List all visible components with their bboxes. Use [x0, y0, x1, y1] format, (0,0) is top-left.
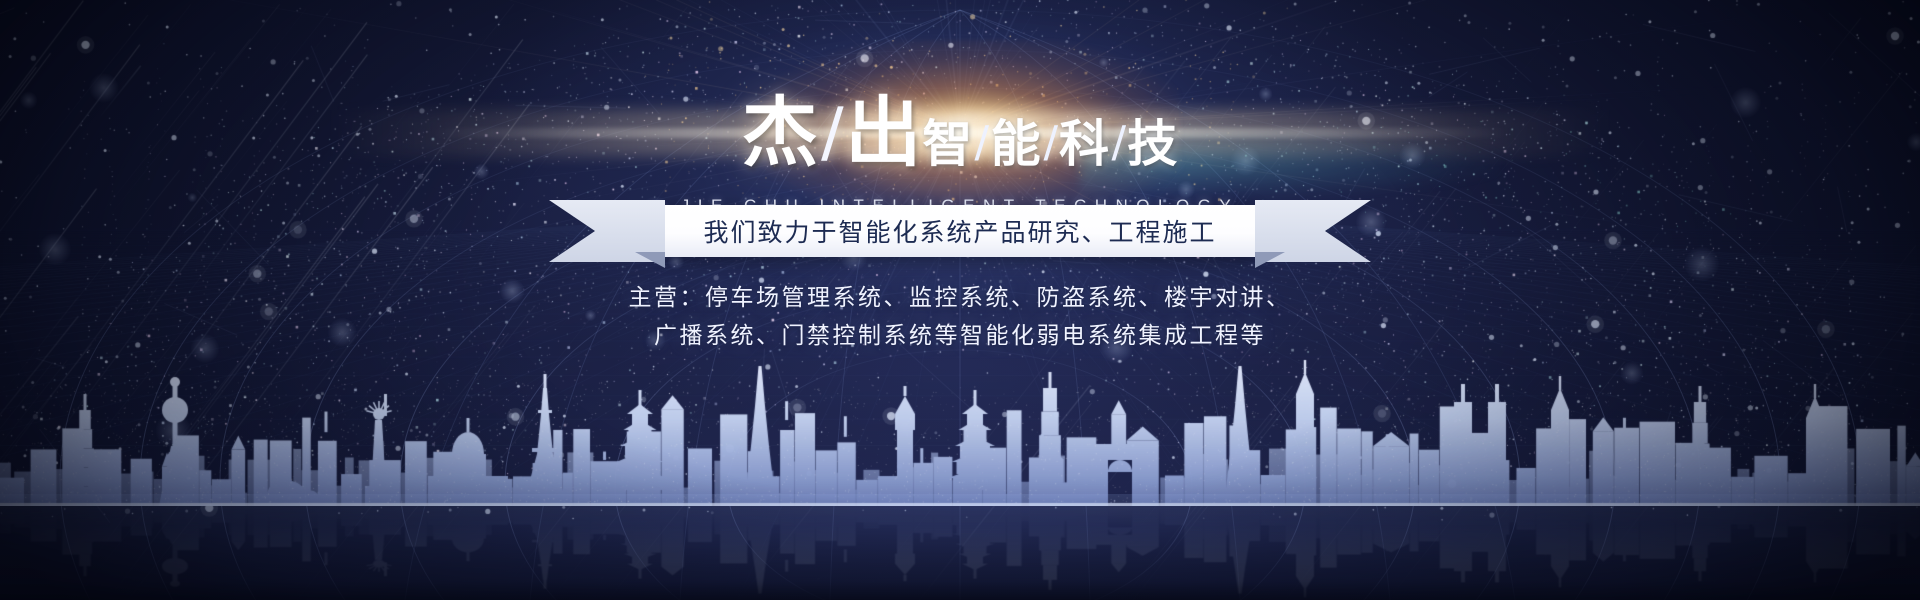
title-separator-3: /	[1041, 121, 1060, 169]
title-separator-1: /	[817, 98, 846, 172]
description-line-2: 广播系统、门禁控制系统等智能化弱电系统集成工程等	[0, 316, 1920, 350]
title-char-zhi: 智	[922, 119, 973, 169]
city-skyline-silhouette	[0, 356, 1920, 506]
title-char-jie: 杰	[742, 96, 819, 172]
banner-title: 杰 / 出 智 / 能 / 科 / 技	[0, 96, 1920, 172]
ribbon-body: 我们致力于智能化系统产品研究、工程施工	[665, 205, 1255, 257]
water-surface	[0, 494, 1920, 600]
title-char-ke: 科	[1059, 119, 1110, 169]
title-separator-4: /	[1109, 121, 1128, 169]
title-char-neng: 能	[991, 119, 1042, 169]
description-line-1: 主营：停车场管理系统、监控系统、防盗系统、楼宇对讲、	[0, 278, 1920, 312]
hero-banner: 杰 / 出 智 / 能 / 科 / 技 JIE CHU INTELLIGENT …	[0, 0, 1920, 600]
tagline-ribbon: 我们致力于智能化系统产品研究、工程施工	[0, 200, 1920, 262]
title-char-chu: 出	[845, 96, 922, 172]
title-separator-2: /	[972, 121, 991, 169]
title-char-ji: 技	[1127, 119, 1178, 169]
ribbon-label: 我们致力于智能化系统产品研究、工程施工	[703, 213, 1216, 249]
